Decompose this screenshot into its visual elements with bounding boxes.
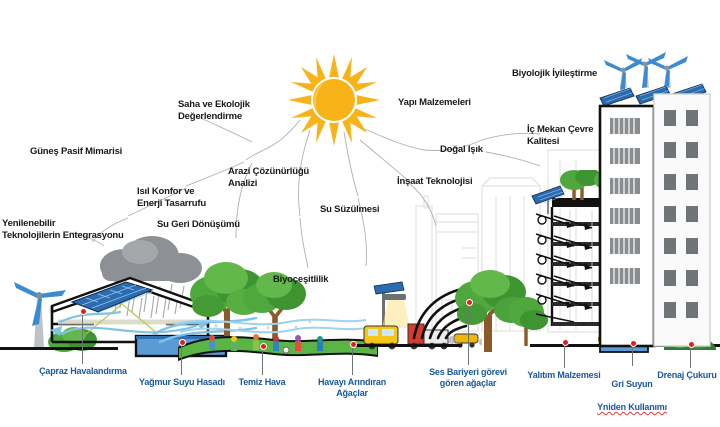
label-su-suzulmesi: Su Süzülmesi xyxy=(320,204,379,216)
label-gunes-pasif-mimarisi: Güneş Pasif Mimarisi xyxy=(30,146,122,158)
marker-gri-suyun-yeniden-kullanimi xyxy=(630,340,637,347)
label-yapi-malzemeleri: Yapı Malzemeleri xyxy=(398,97,471,109)
callout-havayi-arindiran-agaclar: Havayı Arındıran Ağaçlar xyxy=(309,377,395,400)
label-ic-mekan-cevre-kalitesi: İç Mekan Çevre Kalitesi xyxy=(527,124,593,148)
person xyxy=(295,335,301,351)
infographic-canvas: Güneş Pasif Mimarisi Yenilenebilir Tekno… xyxy=(0,0,720,427)
marker-drenaj-cukuru xyxy=(688,341,695,348)
label-insaat-teknolojisi: İnşaat Teknolojisi xyxy=(397,176,472,188)
label-saha-ve-ekolojik: Saha ve Ekolojik Değerlendirme xyxy=(178,99,250,123)
label-isil-konfor: Isıl Konfor ve Enerji Tasarrufu xyxy=(137,186,206,210)
marker-temiz-hava xyxy=(260,343,267,350)
marker-capraz-havalandirma xyxy=(80,308,87,315)
person xyxy=(273,336,279,351)
marker-ses-bariyeri-agaclar xyxy=(466,299,473,306)
person xyxy=(253,334,259,350)
callout-capraz-havalandirma: Çapraz Havalandırma xyxy=(24,366,142,377)
label-biyocesitlilik: Biyoçeşitlilik xyxy=(273,274,328,286)
marker-havayi-arindiran-agaclar xyxy=(350,341,357,348)
callout-ses-bariyeri-agaclar: Ses Bariyeri görevi gören ağaçlar xyxy=(418,367,518,390)
label-arazi-cozunurlugu: Arazi Çözünürlüğü Analizi xyxy=(228,166,309,190)
person xyxy=(209,335,215,350)
label-biyolojik-iyilestirme: Biyolojik İyileştirme xyxy=(512,68,597,80)
label-yenilenebilir-teknolojiler: Yenilenebilir Teknolojilerin Entegrasyon… xyxy=(2,218,124,242)
label-dogal-isik: Doğal Işık xyxy=(440,144,483,156)
leader-capraz-havalandirma xyxy=(82,310,83,364)
marker-yalitim-malzemesi xyxy=(562,339,569,346)
roof-wind-turbines-icon xyxy=(604,52,688,90)
ground-line-mid xyxy=(352,344,462,347)
callout-gri-suyun-line2: Yniden Kullanımı xyxy=(597,402,667,412)
person xyxy=(317,336,323,351)
label-su-geri-donusumu: Su Geri Dönüşümü xyxy=(157,219,240,231)
callout-temiz-hava: Temiz Hava xyxy=(225,377,299,388)
callout-yagmur-suyu-hasadi: Yağmur Suyu Hasadı xyxy=(126,377,238,388)
callout-drenaj-cukuru: Drenaj Çukuru xyxy=(644,370,720,381)
marker-yagmur-suyu-hasadi xyxy=(179,339,186,346)
person xyxy=(231,336,237,351)
apartment-tower xyxy=(596,46,720,348)
ventilation-loops xyxy=(538,216,546,304)
leader-ses-bariyeri-agaclar xyxy=(468,301,469,365)
sun-icon xyxy=(286,52,382,148)
ground-line xyxy=(0,347,118,350)
park-people-group xyxy=(200,330,360,356)
leader-yagmur-suyu-hasadi xyxy=(181,341,182,375)
